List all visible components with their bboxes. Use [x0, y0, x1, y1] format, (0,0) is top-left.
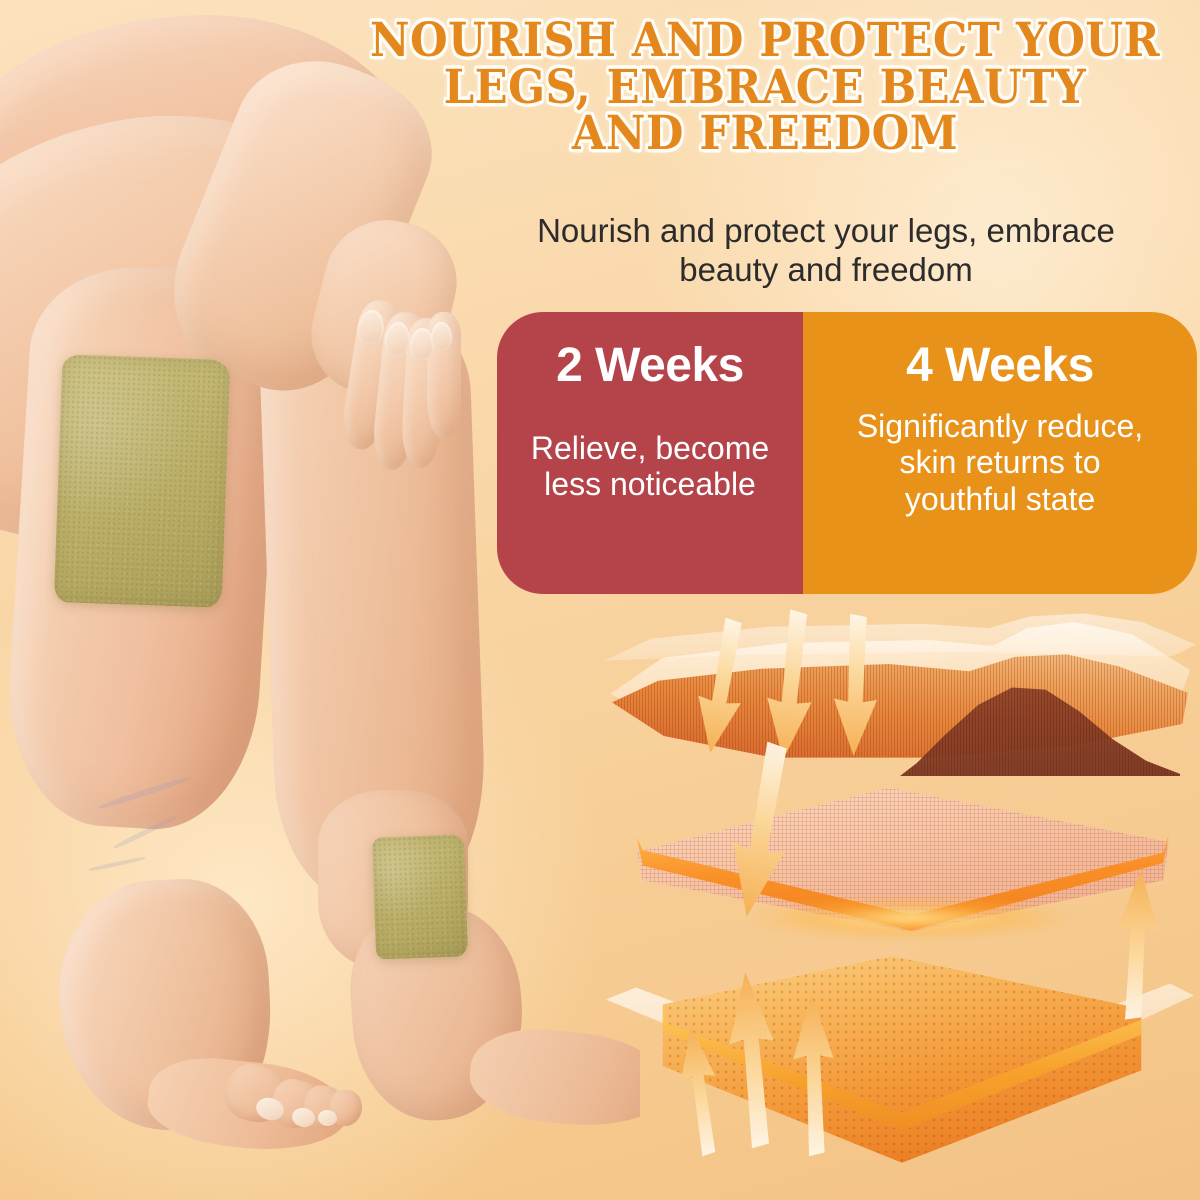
advertisement-banner: NOURISH AND PROTECT YOUR LEGS, EMBRACE B… — [0, 0, 1200, 1200]
layered-patch-diagram — [600, 596, 1200, 1176]
vein-line — [88, 856, 146, 872]
panel-desc-line: youthful state — [857, 481, 1143, 517]
ankle-patch — [372, 834, 468, 959]
panel-description-2-weeks: Relieve, become less noticeable — [531, 430, 769, 503]
adhesive-patch-layer — [642, 956, 1162, 1176]
timeline-comparison-box: 2 Weeks Relieve, become less noticeable … — [497, 312, 1197, 594]
product-photo-legs — [0, 0, 640, 1200]
headline: NOURISH AND PROTECT YOUR LEGS, EMBRACE B… — [365, 18, 1165, 158]
panel-desc-line: Significantly reduce, — [857, 408, 1143, 444]
subtitle-line-2: beauty and freedom — [452, 251, 1200, 290]
panel-title-2-weeks: 2 Weeks — [556, 342, 744, 390]
comparison-panel-2-weeks: 2 Weeks Relieve, become less noticeable — [497, 312, 803, 594]
subtitle-line-1: Nourish and protect your legs, embrace — [452, 212, 1200, 251]
panel-description-4-weeks: Significantly reduce, skin returns to yo… — [857, 408, 1143, 517]
mesh-layer-glow — [750, 896, 1070, 940]
calf-patch — [54, 354, 231, 608]
panel-desc-line: skin returns to — [857, 444, 1143, 480]
subtitle: Nourish and protect your legs, embrace b… — [452, 212, 1200, 290]
fingernail — [431, 322, 452, 350]
headline-line-3: AND FREEDOM — [365, 111, 1165, 158]
panel-desc-line: Relieve, become — [531, 430, 769, 466]
comparison-panel-4-weeks: 4 Weeks Significantly reduce, skin retur… — [803, 312, 1197, 594]
panel-desc-line: less noticeable — [531, 466, 769, 502]
headline-line-2: LEGS, EMBRACE BEAUTY — [365, 65, 1165, 112]
panel-title-4-weeks: 4 Weeks — [906, 342, 1094, 390]
headline-line-1: NOURISH AND PROTECT YOUR — [365, 18, 1165, 65]
